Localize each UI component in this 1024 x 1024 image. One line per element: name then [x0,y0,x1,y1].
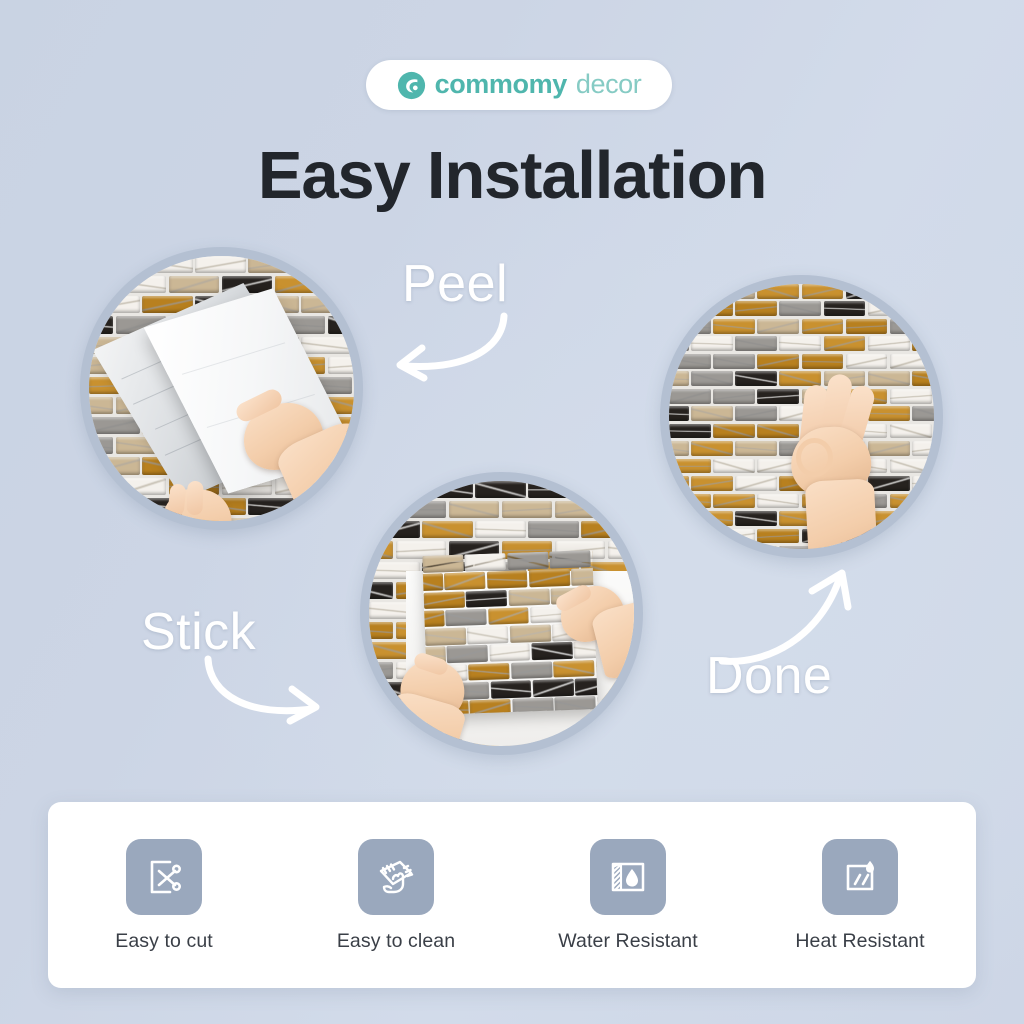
stick-photo [369,481,634,746]
water-droplet-tile-icon [590,839,666,915]
forearm-done [804,478,878,549]
peel-photo [89,256,354,521]
step-label-stick: Stick [141,606,256,658]
feature-heat-resistant: Heat Resistant [744,839,976,952]
feature-label: Easy to cut [115,932,213,952]
page-title: Easy Installation [0,142,1024,209]
feature-label: Water Resistant [558,932,698,952]
brand-name-primary: commomy [435,71,567,98]
step-label-peel: Peel [402,258,508,310]
feature-label: Easy to clean [337,932,455,952]
commomy-circle-icon [397,71,426,100]
infographic-canvas: commomy decor Easy Installation [0,0,1024,1024]
step-photo-peel [80,247,363,530]
feature-card: Easy to cut Easy to clean [48,802,976,988]
step-photo-done [660,275,943,558]
done-photo [669,284,934,549]
feature-easy-to-cut: Easy to cut [48,839,280,952]
hand-wipe-cloth-icon [358,839,434,915]
feature-water-resistant: Water Resistant [512,839,744,952]
brand-logo: commomy decor [366,60,672,110]
curved-arrow-left-icon [352,310,512,380]
curved-arrow-up-right-icon [716,565,866,675]
scissors-cut-icon [126,839,202,915]
feature-easy-to-clean: Easy to clean [280,839,512,952]
curved-arrow-right-icon [200,655,350,725]
brand-name-secondary: decor [576,71,642,98]
step-photo-stick [360,472,643,755]
feature-label: Heat Resistant [795,932,924,952]
flame-tile-icon [822,839,898,915]
